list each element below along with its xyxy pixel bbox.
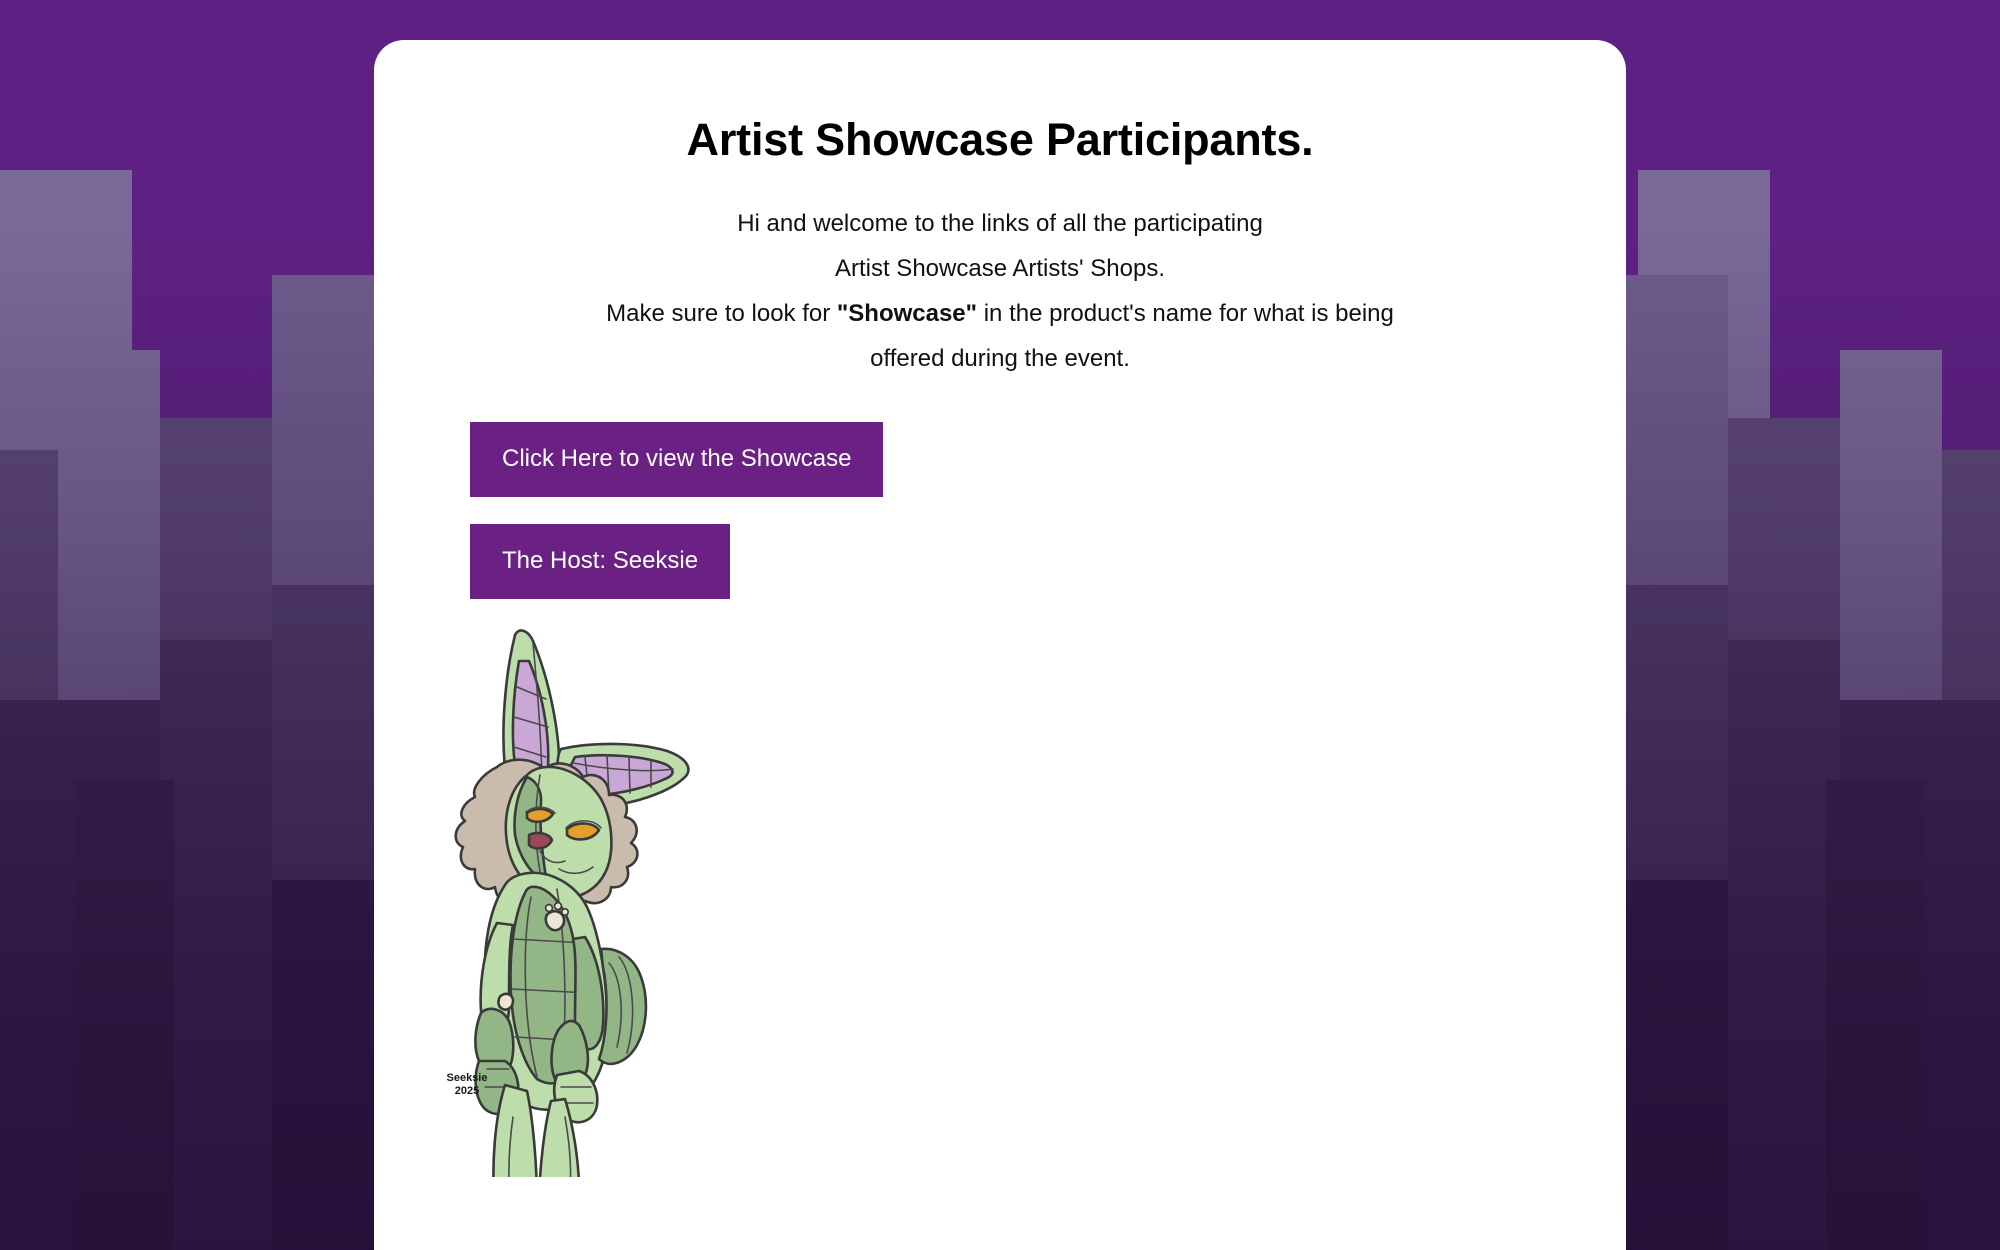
page-title: Artist Showcase Participants. [374, 115, 1626, 165]
artist-signature: Seeksie 2025 [437, 1072, 497, 1100]
showcase-keyword: "Showcase" [837, 300, 977, 327]
intro-line-2: Artist Showcase Artists' Shops. [835, 255, 1165, 282]
intro-line-4: offered during the event. [870, 345, 1130, 372]
signature-year: 2025 [455, 1085, 479, 1097]
host-artwork-container: .ol { stroke:#3A3A3A; stroke-width:2.6; … [409, 617, 739, 1177]
intro-line-1: Hi and welcome to the links of all the p… [737, 210, 1263, 237]
rabbit-tail [599, 948, 646, 1063]
host-seeksie-button[interactable]: The Host: Seeksie [470, 524, 730, 599]
rabbit-arm-charm [498, 993, 513, 1009]
signature-name: Seeksie [447, 1072, 488, 1084]
content-card: Artist Showcase Participants. Hi and wel… [374, 40, 1626, 1250]
intro-paragraph: Hi and welcome to the links of all the p… [374, 201, 1626, 381]
showcase-button-row: Click Here to view the Showcase [470, 422, 1626, 497]
rabbit-nose [529, 832, 552, 847]
intro-line-3-suffix: in the product's name for what is being [977, 300, 1394, 327]
view-showcase-button[interactable]: Click Here to view the Showcase [470, 422, 883, 497]
intro-line-3-prefix: Make sure to look for [606, 300, 837, 327]
host-button-row: The Host: Seeksie [470, 524, 1626, 599]
